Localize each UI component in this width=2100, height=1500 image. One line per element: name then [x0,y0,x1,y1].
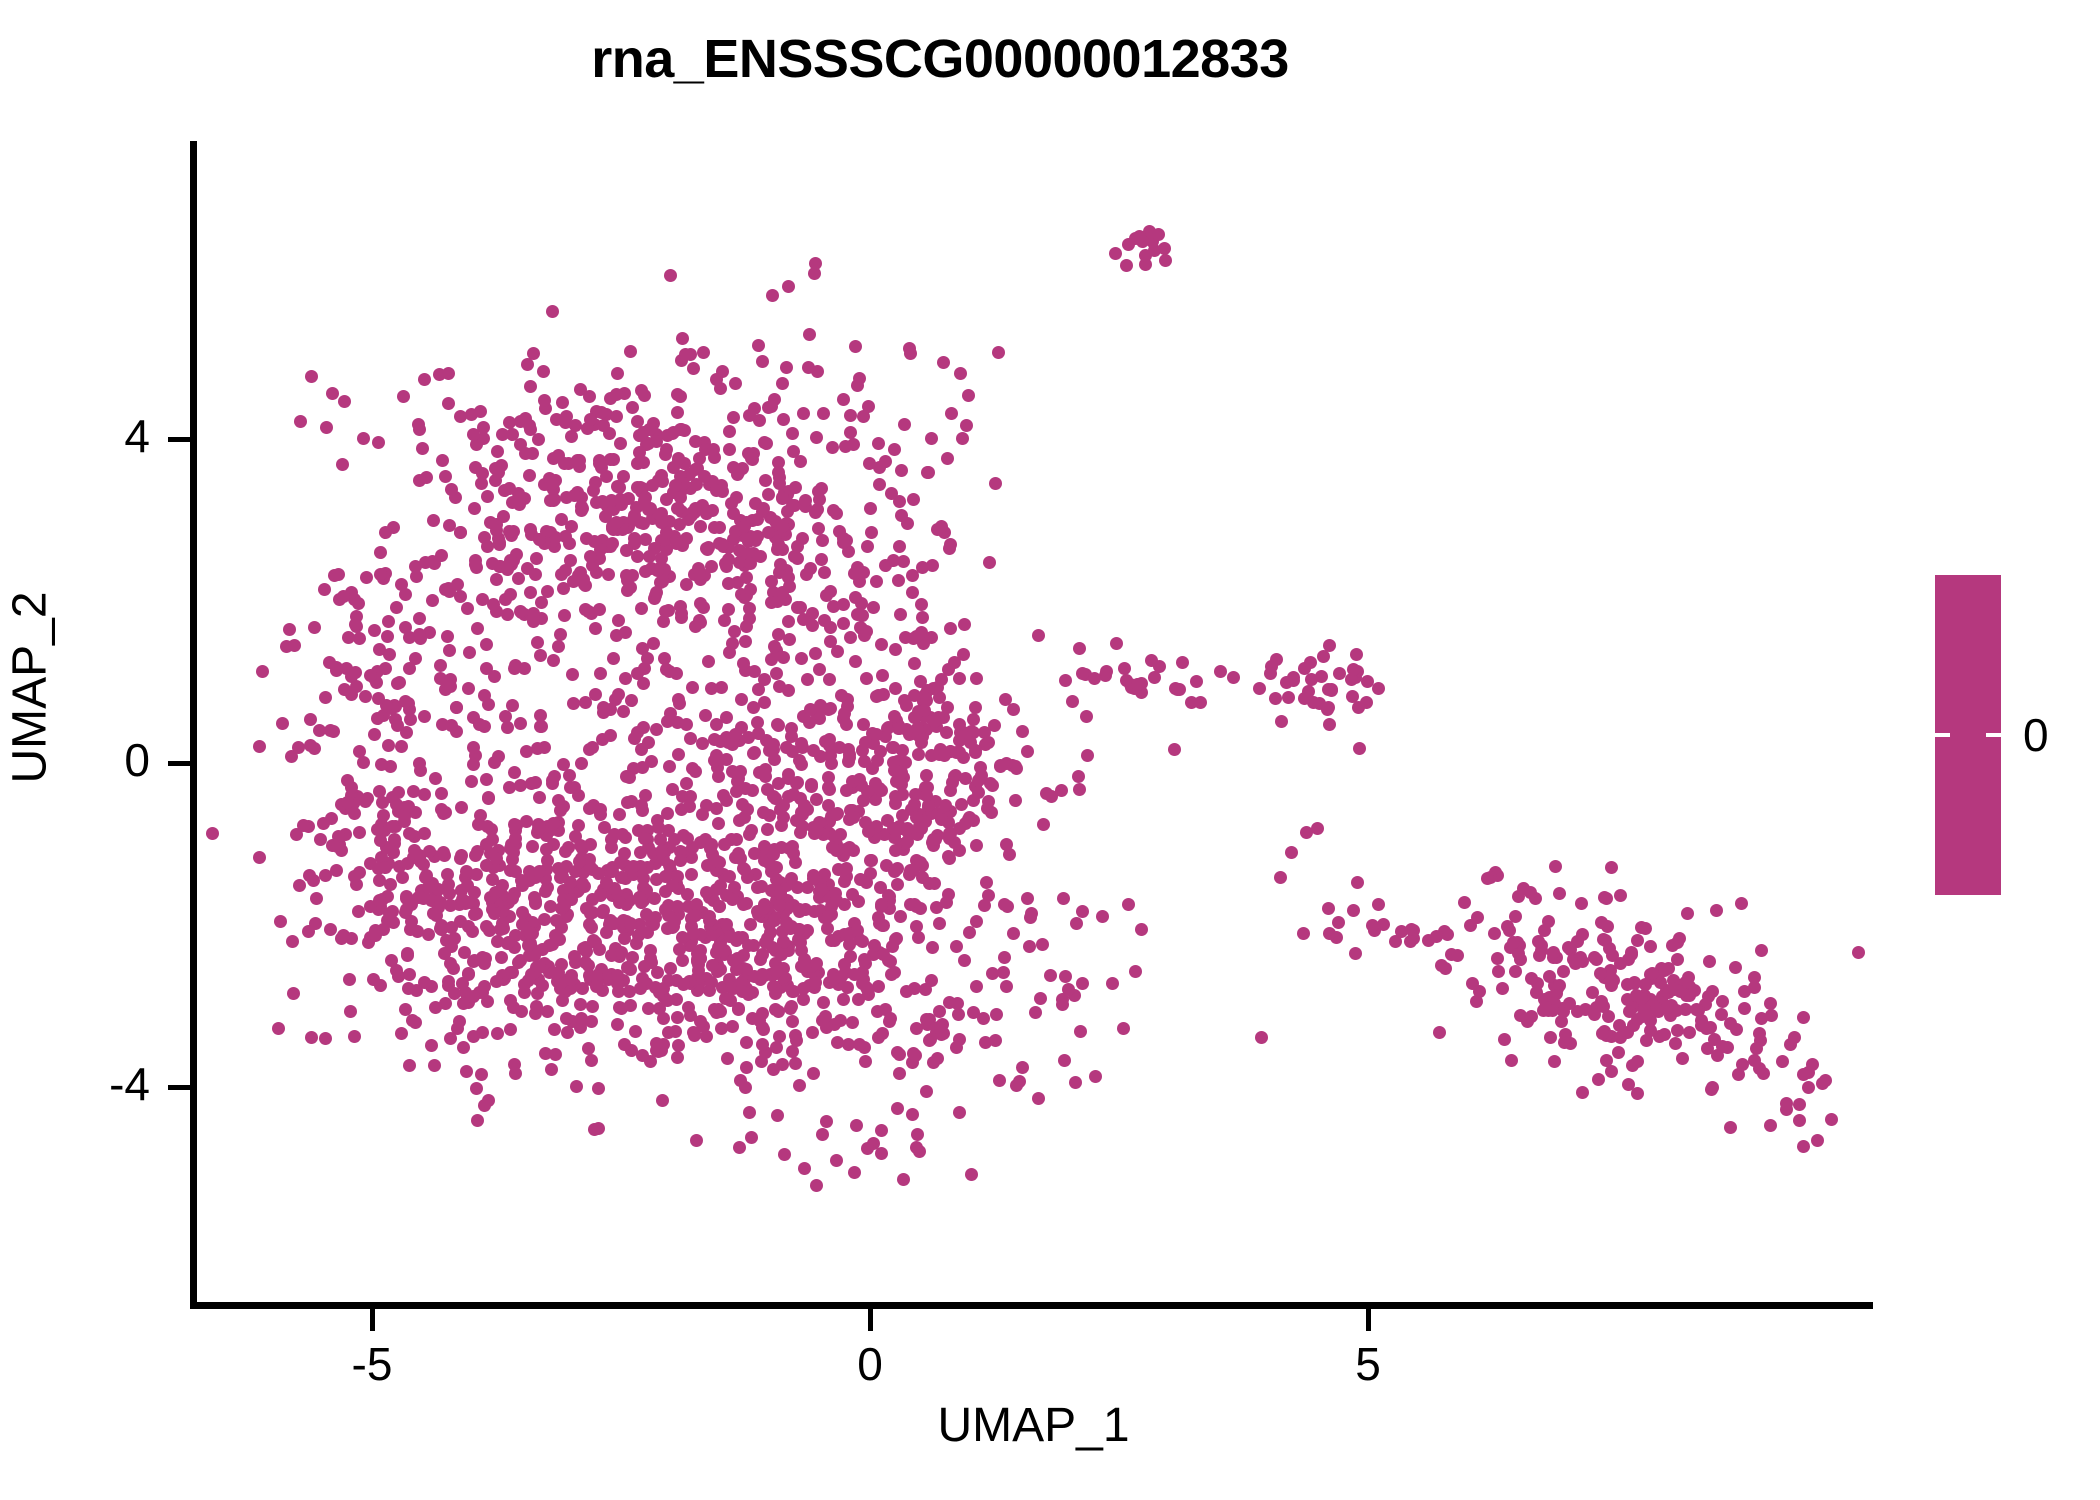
scatter-point [633,891,646,904]
scatter-point [521,358,534,371]
scatter-point [694,616,707,629]
scatter-point [726,1020,739,1033]
scatter-point [1430,930,1443,943]
scatter-point [1666,939,1679,952]
scatter-point [758,673,771,686]
scatter-point [1553,979,1566,992]
scatter-point [324,923,337,936]
scatter-point [476,593,489,606]
y-tick-label: 4 [90,409,150,463]
scatter-point [990,1008,1003,1021]
scatter-point [883,1015,896,1028]
x-tick-mark [1366,1309,1371,1331]
scatter-point [645,755,658,768]
scatter-point [963,811,976,824]
scatter-point [399,1003,412,1016]
scatter-point [631,481,644,494]
scatter-point [707,443,720,456]
scatter-point [461,602,474,615]
scatter-point [817,407,830,420]
scatter-point [770,965,783,978]
scatter-point [739,1081,752,1094]
scatter-point [800,568,813,581]
scatter-point [469,558,482,571]
scatter-point [384,878,397,891]
scatter-point [538,394,551,407]
scatter-point [602,568,615,581]
scatter-point [699,709,712,722]
scatter-point [786,427,799,440]
scatter-point [943,852,956,865]
scatter-point [844,950,857,963]
scatter-point [944,622,957,635]
scatter-point [337,929,350,942]
scatter-point [941,452,954,465]
legend-tick-label-0: 0 [2023,708,2049,762]
scatter-point [816,1128,829,1141]
scatter-point [1797,1140,1810,1153]
scatter-point [958,618,971,631]
scatter-point [650,723,663,736]
scatter-point [842,755,855,768]
scatter-point [515,874,528,887]
scatter-point [1352,701,1365,714]
scatter-point [1122,898,1135,911]
scatter-point [657,1012,670,1025]
scatter-point [1003,848,1016,861]
scatter-point [494,923,507,936]
scatter-point [1349,947,1362,960]
scatter-point [506,428,519,441]
scatter-point [1562,941,1575,954]
scatter-point [915,736,928,749]
scatter-point [613,896,626,909]
scatter-point [861,540,874,553]
scatter-point [773,899,786,912]
scatter-point [1488,927,1501,940]
scatter-point [352,597,365,610]
scatter-point [938,749,951,762]
scatter-point [703,914,716,927]
scatter-point [893,540,906,553]
scatter-point [1625,946,1638,959]
scatter-point [790,777,803,790]
scatter-point [475,1068,488,1081]
scatter-point [642,736,655,749]
scatter-point [442,397,455,410]
scatter-point [744,583,757,596]
scatter-point [782,684,795,697]
scatter-point [487,598,500,611]
scatter-point [671,406,684,419]
scatter-point [1802,1081,1815,1094]
scatter-point [834,1014,847,1027]
scatter-point [1007,703,1020,716]
scatter-point [815,553,828,566]
scatter-point [1683,1026,1696,1039]
scatter-point [795,652,808,665]
scatter-point [827,504,840,517]
scatter-point [729,728,742,741]
scatter-point [553,933,566,946]
scatter-point [896,809,909,822]
scatter-point [819,735,832,748]
scatter-point [508,766,521,779]
scatter-point [915,598,928,611]
scatter-point [558,609,571,622]
scatter-point [503,482,516,495]
scatter-point [911,1128,924,1141]
scatter-point [307,874,320,887]
scatter-point [405,915,418,928]
scatter-point [803,716,816,729]
scatter-point [768,640,781,653]
scatter-point [705,682,718,695]
scatter-point [568,950,581,963]
scatter-point [655,516,668,529]
scatter-point [831,1036,844,1049]
scatter-point [576,877,589,890]
scatter-point [1009,794,1022,807]
scatter-point [638,832,651,845]
scatter-point [612,614,625,627]
scatter-point [337,590,350,603]
scatter-point [372,692,385,705]
scatter-point [740,571,753,584]
scatter-point [586,906,599,919]
scatter-point [733,1141,746,1154]
scatter-point [1622,1078,1635,1091]
scatter-point [1361,675,1374,688]
scatter-point [631,667,644,680]
scatter-point [353,826,366,839]
scatter-point [616,828,629,841]
scatter-point [1621,978,1634,991]
scatter-point [1322,701,1335,714]
scatter-point [1730,1023,1743,1036]
scatter-point [814,699,827,712]
scatter-point [629,1025,642,1038]
scatter-point [910,1141,923,1154]
scatter-point [835,689,848,702]
scatter-point [490,975,503,988]
scatter-point [353,745,366,758]
scatter-point [837,598,850,611]
scatter-point [888,443,901,456]
scatter-point [982,736,995,749]
scatter-point [1100,665,1113,678]
scatter-point [1096,910,1109,923]
scatter-point [875,1147,888,1160]
scatter-point [1592,1073,1605,1086]
scatter-point [784,1002,797,1015]
scatter-point [956,432,969,445]
scatter-point [900,985,913,998]
scatter-point [768,914,781,927]
scatter-point [697,346,710,359]
scatter-point [873,782,886,795]
scatter-point [753,1014,766,1027]
scatter-point [1080,710,1093,723]
scatter-point [943,827,956,840]
scatter-point [849,591,862,604]
scatter-point [739,635,752,648]
scatter-point [547,817,560,830]
scatter-point [747,701,760,714]
scatter-point [908,657,921,670]
scatter-point [851,379,864,392]
scatter-point [256,665,269,678]
scatter-point [450,701,463,714]
x-tick-mark [370,1309,375,1331]
x-tick-mark [868,1309,873,1331]
scatter-point [1503,924,1516,937]
scatter-point [520,815,533,828]
scatter-point [618,1038,631,1051]
scatter-point [583,918,596,931]
scatter-point [977,1012,990,1025]
scatter-point [641,926,654,939]
scatter-point [524,380,537,393]
scatter-point [663,760,676,773]
scatter-point [646,479,659,492]
scatter-point [1347,663,1360,676]
scatter-point [895,766,908,779]
scatter-point [1040,787,1053,800]
scatter-point [549,967,562,980]
scatter-point [442,367,455,380]
scatter-point [309,917,322,930]
scatter-point [638,389,651,402]
scatter-point [395,740,408,753]
scatter-point [666,783,679,796]
scatter-point [429,772,442,785]
scatter-point [490,573,503,586]
scatter-point [751,513,764,526]
scatter-point [442,975,455,988]
scatter-point [482,698,495,711]
scatter-point [575,757,588,770]
scatter-point [336,458,349,471]
scatter-point [1753,1027,1766,1040]
scatter-point [1614,957,1627,970]
scatter-point [401,857,414,870]
scatter-point [379,861,392,874]
scatter-point [488,907,501,920]
legend-tick-right [1986,733,2001,737]
scatter-point [718,838,731,851]
scatter-point [617,705,630,718]
scatter-point [1057,892,1070,905]
scatter-point [586,741,599,754]
scatter-point [885,487,898,500]
scatter-point [489,474,502,487]
scatter-point [403,827,416,840]
scatter-point [805,780,818,793]
scatter-point [927,1056,940,1069]
scatter-point [945,407,958,420]
scatter-point [1690,1003,1703,1016]
scatter-point [680,777,693,790]
scatter-point [744,557,757,570]
scatter-point [1109,247,1122,260]
scatter-point [610,388,623,401]
scatter-point [427,514,440,527]
scatter-point [939,799,952,812]
scatter-point [953,1106,966,1119]
scatter-point [992,346,1005,359]
scatter-point [501,563,514,576]
scatter-point [993,1074,1006,1087]
scatter-point [713,900,726,913]
scatter-point [554,628,567,641]
scatter-point [418,710,431,723]
scatter-point [514,605,527,618]
scatter-point [785,872,798,885]
scatter-point [822,910,835,923]
scatter-point [940,726,953,739]
scatter-point [624,345,637,358]
scatter-point [978,899,991,912]
scatter-point [860,625,873,638]
scatter-point [471,1114,484,1127]
scatter-point [409,1016,422,1029]
scatter-point [627,860,640,873]
scatter-point [1658,964,1671,977]
scatter-point [783,633,796,646]
scatter-point [659,448,672,461]
scatter-point [912,931,925,944]
scatter-point [965,1168,978,1181]
scatter-point [770,1041,783,1054]
scatter-point [469,849,482,862]
scatter-point [467,758,480,771]
y-tick-mark [168,761,190,766]
scatter-point [897,555,910,568]
scatter-point [677,978,690,991]
scatter-point [371,823,384,836]
scatter-point [817,996,830,1009]
scatter-point [1304,656,1317,669]
scatter-point [741,803,754,816]
scatter-point [422,928,435,941]
scatter-point [802,361,815,374]
scatter-point [338,683,351,696]
scatter-point [564,781,577,794]
scatter-point [597,419,610,432]
scatter-point [519,447,532,460]
scatter-point [563,537,576,550]
scatter-point [614,437,627,450]
scatter-point [374,568,387,581]
scatter-point [1076,667,1089,680]
scatter-point [577,573,590,586]
scatter-point [1297,927,1310,940]
scatter-point [906,586,919,599]
scatter-point [1748,971,1761,984]
scatter-point [672,693,685,706]
scatter-point [1612,1046,1625,1059]
scatter-point [503,525,516,538]
x-tick-label: 5 [1308,1337,1428,1391]
scatter-point [780,741,793,754]
scatter-point [687,362,700,375]
scatter-point [712,770,725,783]
scatter-point [600,470,613,483]
scatter-point [710,1006,723,1019]
scatter-point [465,775,478,788]
scatter-point [1788,1031,1801,1044]
scatter-point [727,411,740,424]
scatter-point [717,789,730,802]
scatter-point [607,652,620,665]
scatter-point [558,899,571,912]
scatter-point [413,474,426,487]
scatter-point [1644,1024,1657,1037]
scatter-point [272,1022,285,1035]
scatter-point [1253,682,1266,695]
scatter-point [1509,965,1522,978]
scatter-point [860,981,873,994]
scatter-point [723,443,736,456]
scatter-point [663,665,676,678]
scatter-point [864,502,877,515]
scatter-point [870,575,883,588]
scatter-point [480,773,493,786]
scatter-point [1139,249,1152,262]
scatter-point [504,994,517,1007]
scatter-point [1034,992,1047,1005]
scatter-point [672,1039,685,1052]
scatter-point [526,840,539,853]
scatter-point [1315,670,1328,683]
scatter-point [1118,662,1131,675]
scatter-point [846,888,859,901]
scatter-point [1062,983,1075,996]
scatter-point [575,500,588,513]
scatter-point [445,719,458,732]
scatter-point [546,774,559,787]
scatter-point [1088,672,1101,685]
scatter-point [1317,650,1330,663]
scatter-point [1738,1002,1751,1015]
scatter-point [453,1015,466,1028]
scatter-point [700,507,713,520]
scatter-point [669,479,682,492]
scatter-point [875,638,888,651]
scatter-point [1765,1009,1778,1022]
y-tick-mark [168,437,190,442]
scatter-point [514,717,527,730]
scatter-point [794,455,807,468]
scatter-point [683,800,696,813]
scatter-point [547,654,560,667]
scatter-point [1058,1054,1071,1067]
scatter-point [765,575,778,588]
scatter-point [594,808,607,821]
scatter-point [858,953,871,966]
scatter-point [789,1057,802,1070]
scatter-point [495,951,508,964]
scatter-point [531,636,544,649]
scatter-point [541,1005,554,1018]
scatter-point [586,1000,599,1013]
scatter-point [327,725,340,738]
y-axis-label: UMAP_2 [3,488,58,888]
scatter-point [797,613,810,626]
scatter-point [882,954,895,967]
scatter-point [692,964,705,977]
